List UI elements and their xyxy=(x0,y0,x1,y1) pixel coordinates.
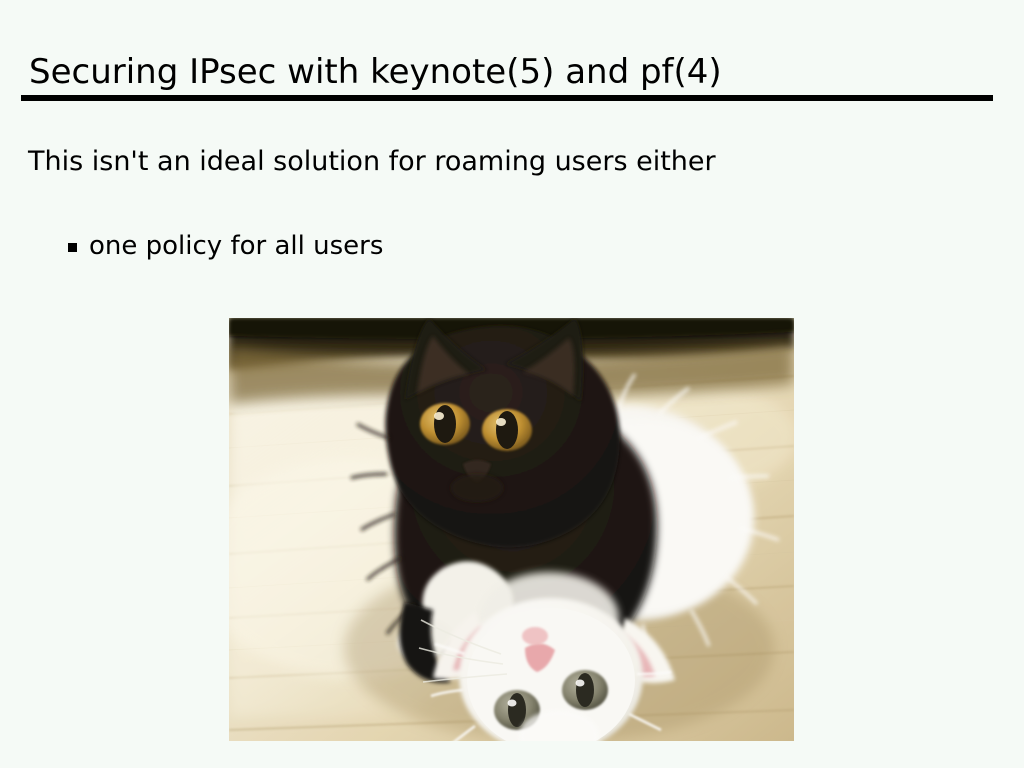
kitten-photo xyxy=(229,318,794,741)
title-underline-rule xyxy=(21,95,993,101)
page-title: Securing IPsec with keynote(5) and pf(4) xyxy=(29,50,722,94)
list-item: one policy for all users xyxy=(68,229,383,263)
slide: Securing IPsec with keynote(5) and pf(4)… xyxy=(0,0,1024,768)
list-item-label: one policy for all users xyxy=(89,229,383,263)
square-bullet-icon xyxy=(68,243,77,252)
kitten-photo-illustration xyxy=(229,318,794,741)
body-paragraph: This isn't an ideal solution for roaming… xyxy=(28,144,716,180)
